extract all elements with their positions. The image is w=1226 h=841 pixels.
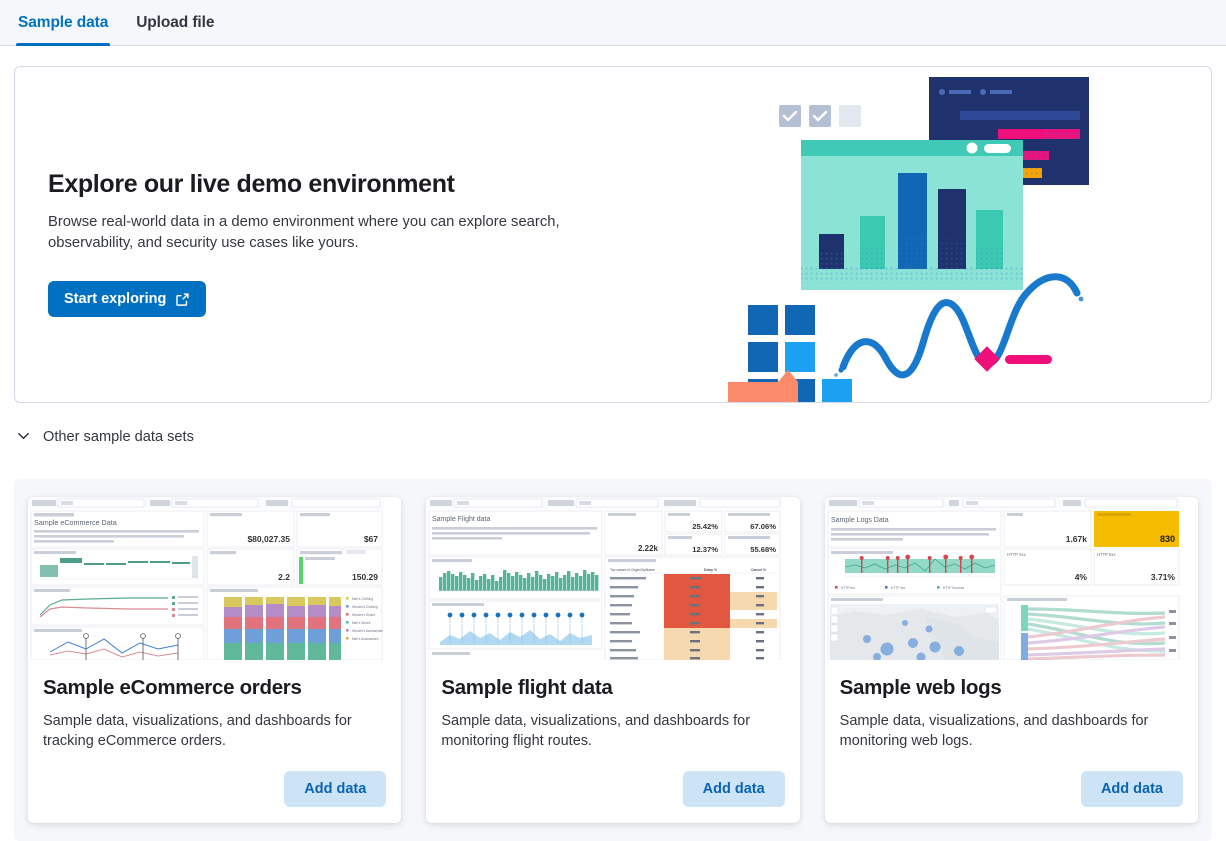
add-data-button-ecommerce[interactable]: Add data [284, 771, 386, 807]
svg-text:Sample eCommerce Data: Sample eCommerce Data [34, 518, 117, 527]
svg-text:2.22k: 2.22k [638, 544, 659, 553]
card-actions: Add data [825, 771, 1198, 823]
hero-subtitle: Browse real-world data in a demo environ… [48, 212, 573, 254]
flight-dashboard-thumbnail: Sample Flight data 2.22k 25.42% 67.06% 1… [426, 497, 799, 660]
svg-text:HTTP 4xx: HTTP 4xx [1007, 552, 1026, 557]
svg-text:Women's Accessories: Women's Accessories [352, 629, 383, 633]
svg-text:HTTP 4xx: HTTP 4xx [891, 586, 906, 590]
svg-text:Delay %: Delay % [704, 568, 717, 572]
svg-text:Sample Flight data: Sample Flight data [432, 516, 490, 523]
svg-text:25.42%: 25.42% [693, 522, 719, 531]
tab-sample-data[interactable]: Sample data [16, 14, 110, 45]
svg-text:Men's Accessories: Men's Accessories [352, 637, 379, 641]
start-exploring-label: Start exploring [64, 291, 166, 307]
svg-text:Top values of OriginCityName: Top values of OriginCityName [610, 568, 655, 572]
svg-text:12.37%: 12.37% [693, 545, 719, 554]
svg-text:830: 830 [1160, 534, 1175, 544]
sample-data-card-flights[interactable]: Sample Flight data 2.22k 25.42% 67.06% 1… [426, 497, 799, 823]
svg-text:Women's Shoes: Women's Shoes [352, 613, 375, 617]
other-sample-data-sets-toggle[interactable]: Other sample data sets [16, 428, 194, 446]
svg-text:HTTP 5xx: HTTP 5xx [1097, 552, 1116, 557]
svg-text:Women's Clothing: Women's Clothing [352, 605, 378, 609]
card-title: Sample flight data [441, 676, 784, 700]
svg-text:$67: $67 [364, 534, 378, 544]
sample-data-cards-panel: Sample eCommerce Data $80,027.35 $67 2.2 [14, 479, 1212, 841]
sample-data-card-weblogs[interactable]: Sample Logs Data 1.67k 830 HTTP 4xx 4% H… [825, 497, 1198, 823]
chevron-down-icon [16, 428, 31, 446]
card-title: Sample web logs [840, 676, 1183, 700]
add-data-button-weblogs[interactable]: Add data [1081, 771, 1183, 807]
svg-text:150.29: 150.29 [352, 572, 378, 582]
card-body: Sample flight data Sample data, visualiz… [426, 660, 799, 771]
demo-environment-illustration [715, 67, 1115, 403]
sample-data-card-ecommerce[interactable]: Sample eCommerce Data $80,027.35 $67 2.2 [28, 497, 401, 823]
svg-text:Cancel %: Cancel % [751, 568, 766, 572]
card-description: Sample data, visualizations, and dashboa… [840, 711, 1183, 751]
tab-bar: Sample data Upload file [0, 0, 1226, 46]
svg-text:3.71%: 3.71% [1151, 572, 1176, 582]
weblogs-dashboard-thumbnail: Sample Logs Data 1.67k 830 HTTP 4xx 4% H… [825, 497, 1198, 660]
external-link-icon [175, 292, 190, 307]
card-body: Sample web logs Sample data, visualizati… [825, 660, 1198, 771]
svg-text:1.67k: 1.67k [1065, 534, 1087, 544]
svg-text:55.68%: 55.68% [751, 545, 777, 554]
tab-upload-file[interactable]: Upload file [134, 14, 216, 45]
add-data-button-flights[interactable]: Add data [683, 771, 785, 807]
card-description: Sample data, visualizations, and dashboa… [441, 711, 784, 751]
svg-text:4%: 4% [1074, 572, 1087, 582]
teal-chart-window [801, 140, 1023, 290]
trend-line-shape [834, 277, 1083, 377]
start-exploring-button[interactable]: Start exploring [48, 281, 206, 317]
card-description: Sample data, visualizations, and dashboa… [43, 711, 386, 751]
page-title: Explore our live demo environment [48, 169, 608, 199]
ecommerce-dashboard-thumbnail: Sample eCommerce Data $80,027.35 $67 2.2 [28, 497, 401, 660]
card-actions: Add data [426, 771, 799, 823]
checkbox-icons [779, 105, 861, 127]
card-title: Sample eCommerce orders [43, 676, 386, 700]
card-body: Sample eCommerce orders Sample data, vis… [28, 660, 401, 771]
other-sample-data-sets-label: Other sample data sets [43, 429, 194, 445]
svg-text:HTTP 5xx: HTTP 5xx [841, 586, 856, 590]
svg-text:Men's Clothing: Men's Clothing [352, 597, 373, 601]
salmon-note-shape [728, 370, 798, 403]
svg-text:Men's Shoes: Men's Shoes [352, 621, 371, 625]
svg-text:2.2: 2.2 [278, 572, 290, 582]
demo-environment-hero-panel: Explore our live demo environment Browse… [14, 66, 1212, 403]
svg-text:67.06%: 67.06% [751, 522, 777, 531]
svg-text:HTTP Success: HTTP Success [943, 586, 965, 590]
svg-text:$80,027.35: $80,027.35 [247, 534, 290, 544]
card-actions: Add data [28, 771, 401, 823]
hero-text-block: Explore our live demo environment Browse… [48, 169, 608, 317]
svg-text:Sample Logs Data: Sample Logs Data [831, 517, 889, 524]
